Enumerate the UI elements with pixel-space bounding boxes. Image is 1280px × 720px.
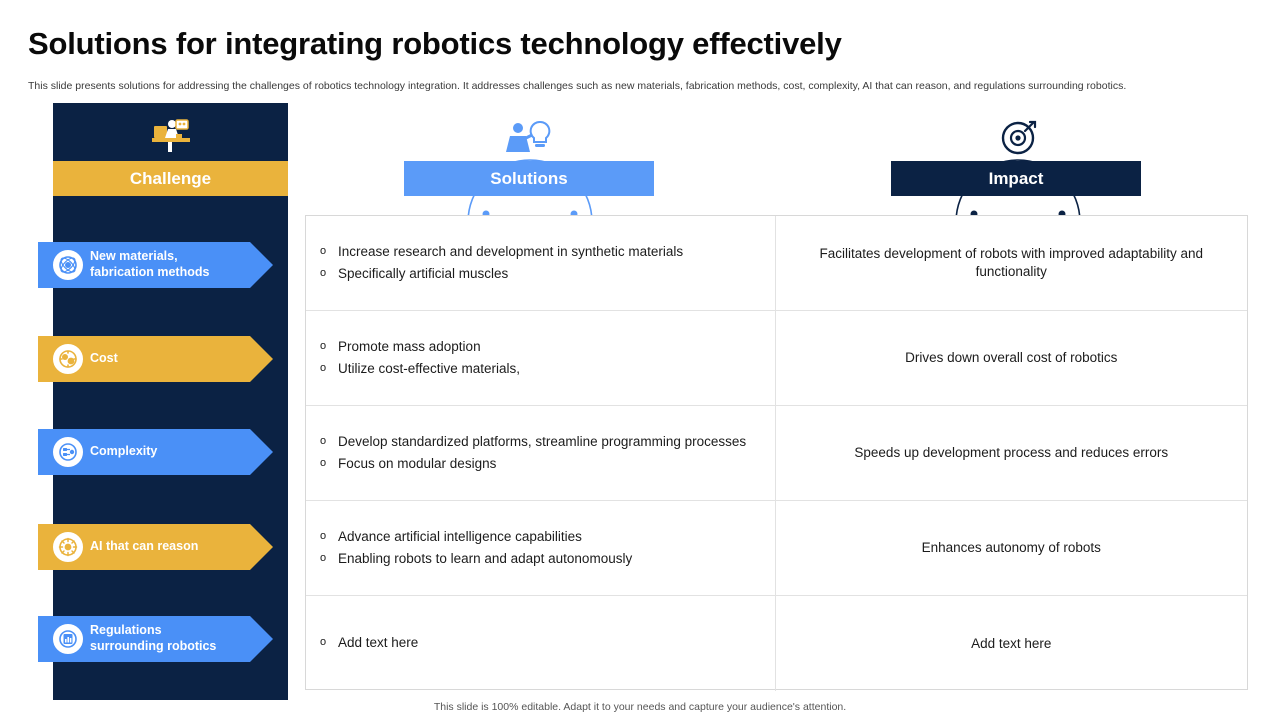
table-row: o Promote mass adoption o Utilize cost-e… — [306, 311, 1247, 406]
bullet-marker: o — [320, 338, 338, 356]
impact-cell: Enhances autonomy of robots — [776, 501, 1248, 595]
impact-text: Facilitates development of robots with i… — [800, 245, 1224, 280]
bullet-marker: o — [320, 634, 338, 652]
list-item: o Specifically artificial muscles — [320, 265, 753, 283]
table-row: o Develop standardized platforms, stream… — [306, 406, 1247, 501]
challenge-label-line2: fabrication methods — [90, 265, 209, 281]
challenge-label-line1: Complexity — [90, 444, 157, 460]
footer-note: This slide is 100% editable. Adapt it to… — [0, 701, 1280, 713]
list-item: o Increase research and development in s… — [320, 243, 753, 261]
challenge-chip-ai-reason[interactable]: AI that can reason — [38, 524, 270, 570]
list-item: o Focus on modular designs — [320, 455, 753, 473]
list-item-text: Focus on modular designs — [338, 455, 496, 473]
bullet-marker: o — [320, 455, 338, 473]
list-item: o Develop standardized platforms, stream… — [320, 433, 753, 451]
table-row: o Increase research and development in s… — [306, 216, 1247, 311]
column-header-impact: Impact — [891, 161, 1141, 196]
table-row: o Add text here Add text here — [306, 596, 1247, 691]
list-item: o Enabling robots to learn and adapt aut… — [320, 550, 753, 568]
bullet-marker: o — [320, 433, 338, 451]
person-lightbulb-icon — [500, 118, 558, 160]
solutions-cell: o Promote mass adoption o Utilize cost-e… — [306, 311, 776, 405]
impact-text: Drives down overall cost of robotics — [905, 349, 1117, 367]
bullet-marker: o — [320, 265, 338, 283]
list-item: o Promote mass adoption — [320, 338, 753, 356]
list-item-text: Advance artificial intelligence capabili… — [338, 528, 582, 546]
list-item-text: Add text here — [338, 634, 418, 652]
column-header-challenge: Challenge — [53, 161, 288, 196]
impact-cell: Add text here — [776, 596, 1248, 691]
impact-cell: Facilitates development of robots with i… — [776, 216, 1248, 310]
bullet-marker: o — [320, 550, 338, 568]
list-item: o Add text here — [320, 634, 753, 652]
impact-text: Enhances autonomy of robots — [922, 539, 1101, 557]
list-item: o Utilize cost-effective materials, — [320, 360, 753, 378]
document-chart-icon — [51, 622, 85, 656]
challenge-chip-complexity[interactable]: Complexity — [38, 429, 270, 475]
challenge-label-line1: Cost — [90, 351, 118, 367]
slide-root: Solutions for integrating robotics techn… — [0, 0, 1280, 720]
challenge-chip-regulations[interactable]: Regulations surrounding robotics — [38, 616, 270, 662]
list-item-text: Increase research and development in syn… — [338, 243, 683, 261]
challenge-chip-new-materials[interactable]: New materials, fabrication methods — [38, 242, 270, 288]
atom-gear-icon — [51, 248, 85, 282]
list-item-text: Utilize cost-effective materials, — [338, 360, 520, 378]
list-item-text: Specifically artificial muscles — [338, 265, 508, 283]
challenge-label-line1: New materials, — [90, 249, 209, 265]
challenge-label-line1: Regulations — [90, 623, 216, 639]
worker-robot-icon — [148, 112, 194, 154]
bullet-marker: o — [320, 360, 338, 378]
list-item-text: Promote mass adoption — [338, 338, 481, 356]
solutions-cell: o Advance artificial intelligence capabi… — [306, 501, 776, 595]
challenge-label-line1: AI that can reason — [90, 539, 198, 555]
network-nodes-icon — [51, 435, 85, 469]
challenge-label-line2: surrounding robotics — [90, 639, 216, 655]
challenge-chip-cost[interactable]: Cost — [38, 336, 270, 382]
table-row: o Advance artificial intelligence capabi… — [306, 501, 1247, 596]
target-gear-icon — [992, 118, 1044, 160]
bullet-marker: o — [320, 243, 338, 261]
page-subtitle: This slide presents solutions for addres… — [28, 80, 1228, 92]
solutions-cell: o Develop standardized platforms, stream… — [306, 406, 776, 500]
list-item: o Advance artificial intelligence capabi… — [320, 528, 753, 546]
impact-text: Add text here — [971, 635, 1051, 653]
coins-gear-icon — [51, 342, 85, 376]
impact-cell: Speeds up development process and reduce… — [776, 406, 1248, 500]
solutions-cell: o Increase research and development in s… — [306, 216, 776, 310]
ai-brain-icon — [51, 530, 85, 564]
column-header-solutions: Solutions — [404, 161, 654, 196]
impact-text: Speeds up development process and reduce… — [854, 444, 1168, 462]
page-title: Solutions for integrating robotics techn… — [28, 26, 842, 62]
impact-cell: Drives down overall cost of robotics — [776, 311, 1248, 405]
solutions-impact-table: o Increase research and development in s… — [305, 215, 1248, 690]
bullet-marker: o — [320, 528, 338, 546]
solutions-cell: o Add text here — [306, 596, 776, 691]
list-item-text: Develop standardized platforms, streamli… — [338, 433, 746, 451]
list-item-text: Enabling robots to learn and adapt auton… — [338, 550, 632, 568]
